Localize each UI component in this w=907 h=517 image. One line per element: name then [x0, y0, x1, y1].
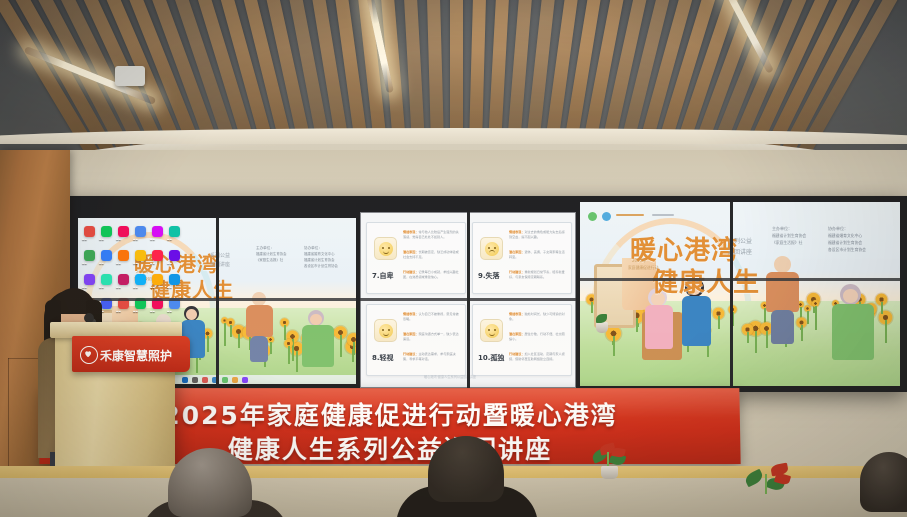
- emotion-card-row: 情绪表现：常与他人比较后产生强烈的失落感，觉得自己处处不如别人。: [403, 230, 461, 240]
- desktop-icon-label: ▬▬: [167, 310, 172, 313]
- panel-seam: [467, 212, 470, 388]
- desktop-icon-label: ▬▬: [133, 310, 138, 313]
- audience-member-head: [428, 436, 504, 502]
- desktop-icon-label: ▬▬: [133, 262, 138, 265]
- emotion-card-row: 潜在原因：居住分散、行动不便、社交圈缩小。: [509, 332, 567, 342]
- desktop-icon[interactable]: [169, 226, 180, 237]
- emotion-card-row-key: 情绪表现：: [509, 230, 524, 234]
- sunflower-stem: [270, 342, 272, 354]
- sunflower-stem: [238, 334, 240, 348]
- host-line2-left: 《家庭生活报》社: [256, 258, 283, 263]
- sunflower-stem: [766, 331, 768, 348]
- org-line3-right: 各设区市计划生育协会: [828, 247, 866, 253]
- sunflower-stem: [591, 302, 593, 313]
- emotion-card-row: 潜在原因：长期被否定、缺乏成功体验或社会支持不足。: [403, 250, 461, 260]
- audience-member-head: [860, 452, 907, 512]
- emotion-card-row-key: 情绪表现：: [403, 230, 418, 234]
- sunflower-stem: [224, 323, 226, 347]
- emotion-card-row-key: 行动建议：: [403, 352, 418, 356]
- desktop-icon-label: ▬▬: [82, 286, 87, 289]
- host-line2-right: 《家庭生活报》社: [772, 240, 802, 246]
- emotion-card-row: 潜在原因：退休、丧偶、子女离家等生活转变。: [509, 250, 567, 260]
- desktop-icon-label: ▬▬: [116, 262, 121, 265]
- emotion-card-row-key: 潜在原因：: [403, 332, 418, 336]
- desktop-icon-label: ▬▬: [150, 310, 155, 313]
- emotion-card-row: 行动建议：加入社区活动，定期与家人视频，借助邻里互助网络建立连接。: [509, 352, 567, 362]
- emotion-card-row-key: 行动建议：: [509, 352, 524, 356]
- emotion-card-row: 情绪表现：认为自己不被重视，意见常被忽略。: [403, 312, 461, 322]
- emotion-card-row: 行动建议：主动表达需求，参与家庭决策，寻求平等对话。: [403, 352, 461, 362]
- emoji-face: [485, 242, 499, 256]
- desktop-icon[interactable]: [101, 226, 112, 237]
- taskbar-icon[interactable]: [242, 377, 248, 383]
- emotion-card-row: 行动建议：重新规划日常节奏，培养新爱好，与亲友保持定期联系。: [509, 270, 567, 280]
- conference-hall-photo: 暖心港湾 健康人生 系列公益 巡回讲座 2025年 家庭健康促进行动 主办单位：…: [0, 0, 907, 517]
- poster-year-right: 2025年: [632, 258, 646, 264]
- desktop-icon-label: ▬▬: [99, 262, 104, 265]
- emoji-face: [379, 242, 393, 256]
- desktop-icon[interactable]: [169, 274, 180, 285]
- emotion-card: 7.自卑情绪表现：常与他人比较后产生强烈的失落感，觉得自己处处不如别人。潜在原因…: [366, 222, 466, 294]
- desktop-icon-label: ▬▬: [116, 238, 121, 241]
- emotion-card: 9.失落情绪表现：对过去的角色或能力失去后感到空虚，提不起兴趣。潜在原因：退休、…: [472, 222, 572, 294]
- desktop-icon-label: ▬▬: [167, 238, 172, 241]
- host-line1-left: 福建省计划生育协会: [256, 252, 287, 257]
- sunflower-stem: [340, 335, 342, 357]
- emotion-card-title: 7.自卑: [372, 271, 394, 281]
- emotion-card-row-key: 潜在原因：: [509, 250, 524, 254]
- desktop-icon[interactable]: [118, 274, 129, 285]
- desktop-icon-label: ▬▬: [150, 286, 155, 289]
- sunflower-stem: [353, 342, 355, 355]
- desktop-icon-label: ▬▬: [167, 286, 172, 289]
- desktop-icon-label: ▬▬: [116, 286, 121, 289]
- desktop-icon-label: ▬▬: [133, 238, 138, 241]
- podium-brand-text: 禾康智慧照护: [100, 347, 172, 364]
- poster-action-right: 家庭健康促进行动: [628, 265, 658, 271]
- sunflower-stem: [885, 320, 887, 344]
- emotion-card-row-key: 行动建议：: [403, 270, 418, 274]
- sunflower-stem: [230, 325, 232, 338]
- host-label-left: 主办单位：: [256, 246, 274, 251]
- org-line2-right: 福建省计划生育协会: [828, 240, 862, 246]
- emotion-card-row: 潜在原因：家庭沟通方式单一，缺少表达渠道。: [403, 332, 461, 342]
- desktop-icon[interactable]: [135, 274, 146, 285]
- sunflower-stem: [747, 332, 749, 343]
- desktop-icon-label: ▬▬: [82, 238, 87, 241]
- desktop-icon[interactable]: [169, 250, 180, 261]
- sunflower-stem: [881, 302, 883, 314]
- emotion-card-row-key: 潜在原因：: [509, 332, 524, 336]
- taskbar-icon[interactable]: [222, 377, 228, 383]
- desktop-icon[interactable]: [135, 226, 146, 237]
- org-line1-left: 福建省婚育文化中心: [304, 252, 335, 257]
- sunflower-stem: [288, 346, 290, 363]
- desktop-icon[interactable]: [152, 274, 163, 285]
- desktop-icon[interactable]: [84, 226, 95, 237]
- desktop-icon-label: ▬▬: [150, 238, 155, 241]
- panel-seam: [216, 218, 219, 384]
- partner-wordmark-bar: [616, 214, 644, 216]
- taskbar-icon[interactable]: [182, 377, 188, 383]
- soffit-edge: [0, 128, 907, 144]
- plant-pot-illustration: [596, 322, 608, 333]
- heart-in-circle-icon: [80, 346, 98, 364]
- org-line3-left: 各设区市计划生育协会: [304, 264, 338, 269]
- sunflower-stem: [296, 351, 298, 372]
- desktop-icon[interactable]: [101, 250, 112, 261]
- ceiling-speaker-box: [115, 66, 145, 86]
- org-line2-left: 福建省计划生育协会: [304, 258, 335, 263]
- rain-cloud-person-icon: [480, 319, 503, 342]
- emoji-face: [485, 324, 499, 338]
- desktop-icon[interactable]: [152, 226, 163, 237]
- desktop-icon[interactable]: [84, 250, 95, 261]
- poster-sub2-left: 巡回讲座: [210, 261, 230, 268]
- sunflower-stem: [755, 331, 757, 353]
- taskbar-icon[interactable]: [202, 377, 208, 383]
- sunflower-stem: [613, 336, 615, 356]
- org-label-right: 协办单位：: [828, 226, 848, 232]
- emotion-card-row-key: 情绪表现：: [509, 312, 524, 316]
- desktop-icon-label: ▬▬: [82, 262, 87, 265]
- emotion-card-row-key: 行动建议：: [509, 270, 524, 274]
- desktop-icon-label: ▬▬: [116, 310, 121, 313]
- emotion-card: 10.孤独情绪表现：独处时间长，缺少可倾诉的对象。潜在原因：居住分散、行动不便、…: [472, 304, 572, 376]
- host-line1-right: 福建省计划生育协会: [772, 233, 806, 239]
- desktop-icon-label: ▬▬: [150, 262, 155, 265]
- partner-wordmark-bar: [652, 214, 674, 216]
- desktop-icon-label: ▬▬: [133, 286, 138, 289]
- sunflower-stem: [207, 336, 209, 352]
- emotion-card-title: 9.失落: [478, 271, 500, 281]
- org-label-left: 协办单位：: [304, 246, 322, 251]
- org-line1-right: 福建省婚育文化中心: [828, 233, 862, 239]
- emotion-card-title: 10.孤独: [478, 353, 504, 363]
- panel-seam: [580, 278, 900, 281]
- emotion-card-row: 情绪表现：对过去的角色或能力失去后感到空虚，提不起兴趣。: [509, 230, 567, 240]
- desktop-icon[interactable]: [152, 250, 163, 261]
- emotion-card: 8.轻视情绪表现：认为自己不被重视，意见常被忽略。潜在原因：家庭沟通方式单一，缺…: [366, 304, 466, 376]
- desktop-icon-label: ▬▬: [99, 238, 104, 241]
- desktop-icon[interactable]: [118, 226, 129, 237]
- sad-face-icon: [374, 237, 397, 260]
- frown-face-icon: [480, 237, 503, 260]
- video-wall-panel-right[interactable]: 暖心港湾 健康人生 系列公益 巡回讲座 2025年 家庭健康促进行动 主办单位：…: [580, 202, 900, 386]
- wechat-logo-icon: [588, 212, 597, 221]
- desktop-icon-label: ▬▬: [99, 286, 104, 289]
- emoji-face: [379, 324, 393, 338]
- sunflower-stem: [815, 306, 817, 330]
- sunflower-stem: [718, 316, 720, 329]
- host-label-right: 主办单位：: [772, 226, 792, 232]
- poster-sub1-left: 系列公益: [210, 252, 230, 259]
- sunflower-stem: [801, 325, 803, 341]
- desktop-icon-label: ▬▬: [167, 262, 172, 265]
- desktop-icon[interactable]: [84, 274, 95, 285]
- emotion-card-title: 8.轻视: [372, 353, 394, 363]
- emotion-card-row-key: 情绪表现：: [403, 312, 418, 316]
- panel-seam: [730, 202, 733, 386]
- desktop-icon[interactable]: [101, 274, 112, 285]
- taskbar-icon[interactable]: [192, 377, 198, 383]
- sunflower-stem: [807, 311, 809, 324]
- emotion-card-row-key: 潜在原因：: [403, 250, 418, 254]
- partner-logo-icon: [602, 212, 611, 221]
- emotion-card-row: 情绪表现：独处时间长，缺少可倾诉的对象。: [509, 312, 567, 322]
- emotion-card-row: 行动建议：记录每日小成就，参加兴趣社团，在熟悉领域重建信心。: [403, 270, 461, 280]
- desktop-icon[interactable]: [135, 250, 146, 261]
- video-wall-panel-center[interactable]: 7.自卑情绪表现：常与他人比较后产生强烈的失落感，觉得自己处处不如别人。潜在原因…: [360, 212, 576, 388]
- smile-face-icon: [374, 319, 397, 342]
- desktop-icon[interactable]: [118, 250, 129, 261]
- taskbar-icon[interactable]: [232, 377, 238, 383]
